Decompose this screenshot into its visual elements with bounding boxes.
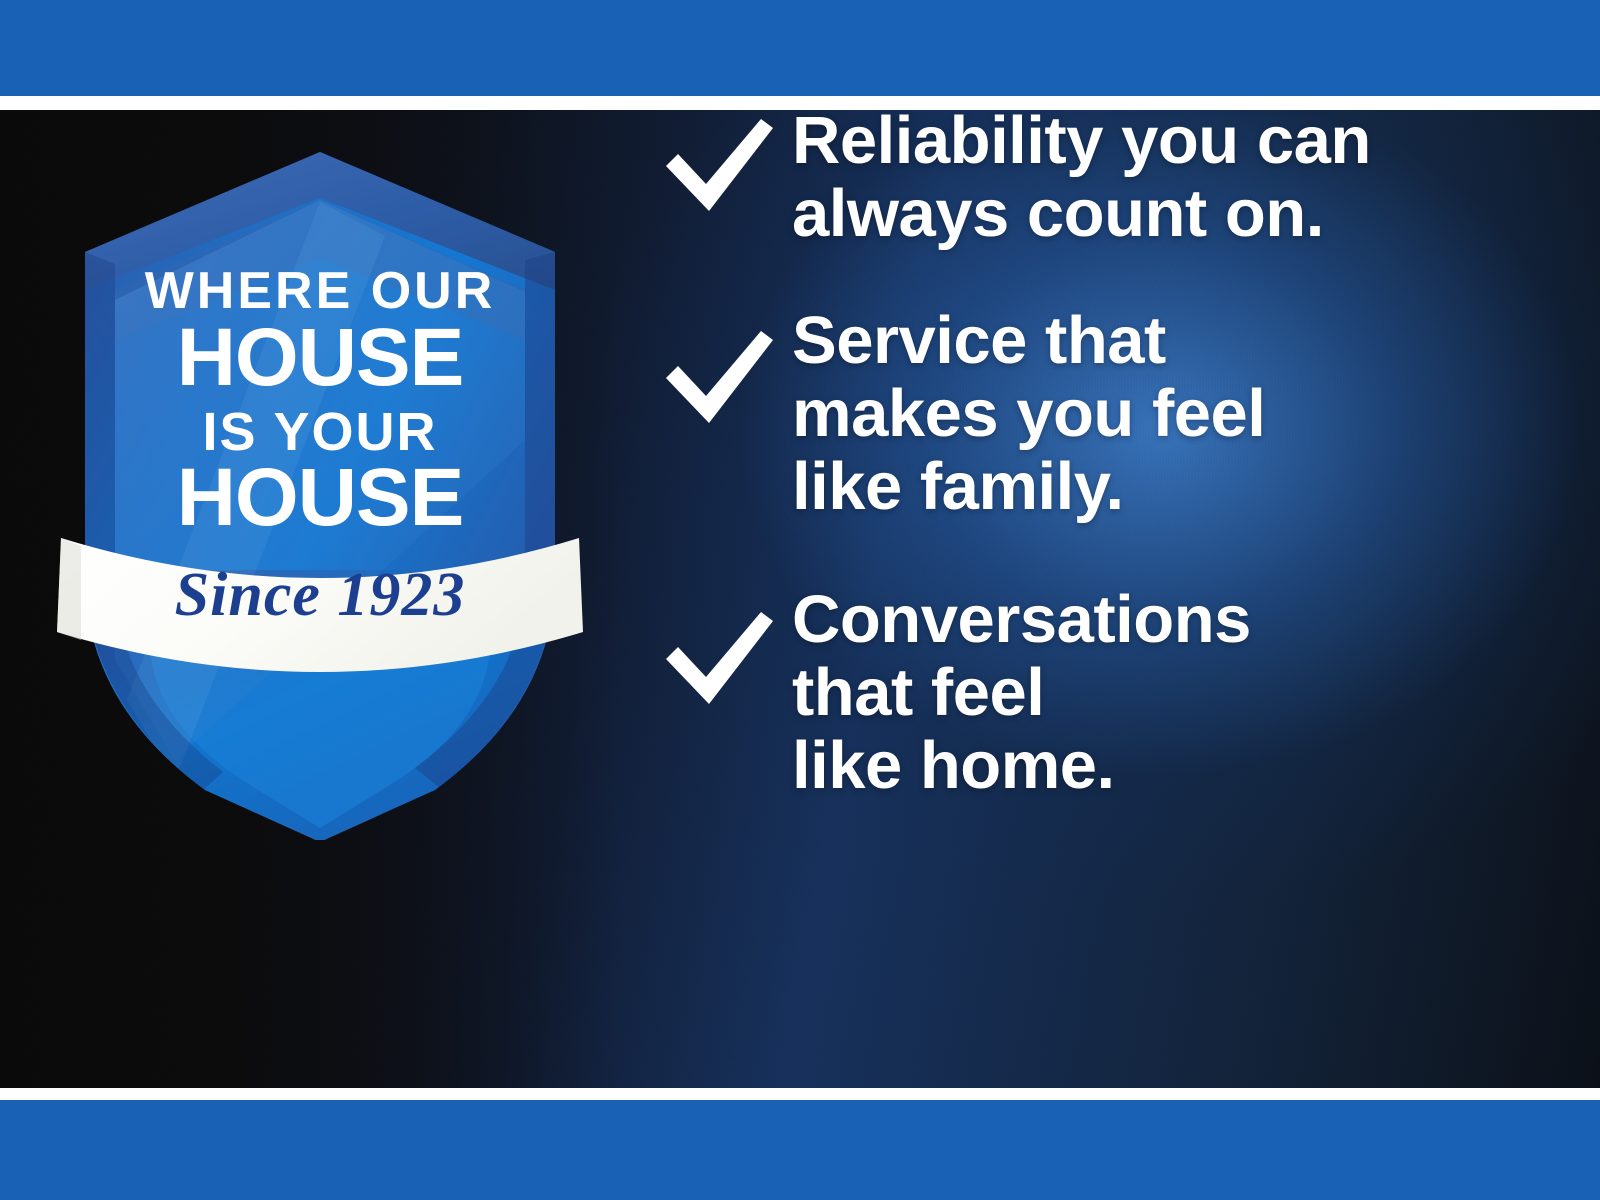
- check-icon: [660, 114, 778, 218]
- list-item: Conversations that feel like home.: [660, 583, 1540, 802]
- list-item: Service that makes you feel like family.: [660, 304, 1540, 523]
- shield-line-2: HOUSE: [177, 312, 464, 403]
- shield-line-4: HOUSE: [177, 452, 464, 543]
- list-item-label: Service that makes you feel like family.: [792, 304, 1265, 523]
- top-blue-bar: [0, 0, 1600, 96]
- list-item-label: Conversations that feel like home.: [792, 583, 1251, 802]
- promotional-banner: WHERE OUR HOUSE IS YOUR HOUSE Since 1923…: [0, 0, 1600, 1200]
- check-icon: [660, 326, 778, 430]
- list-item: Reliability you can always count on.: [660, 100, 1540, 250]
- company-logo: WHERE OUR HOUSE IS YOUR HOUSE Since 1923: [55, 140, 615, 840]
- bottom-blue-bar: [0, 1100, 1600, 1200]
- bottom-white-separator: [0, 1088, 1600, 1100]
- list-item-label: Reliability you can always count on.: [792, 104, 1371, 250]
- benefits-list: Reliability you can always count on. Ser…: [660, 100, 1540, 856]
- shield-text-block: WHERE OUR HOUSE IS YOUR HOUSE: [145, 262, 496, 543]
- ribbon-text: Since 1923: [175, 561, 466, 629]
- check-icon: [660, 607, 778, 711]
